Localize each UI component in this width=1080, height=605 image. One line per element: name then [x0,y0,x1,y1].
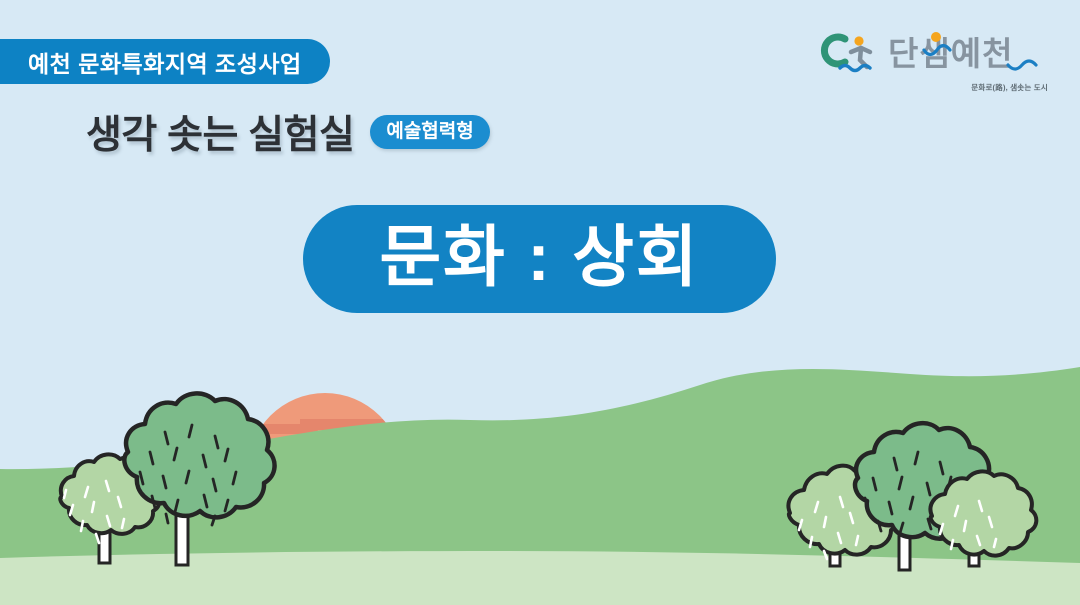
logo-symbol-mark [820,30,882,76]
subtitle-row: 생각 솟는 실험실 예술협력형 [86,104,490,160]
subtitle-text: 생각 솟는 실험실 [86,104,354,160]
logo-wordmark-text: 단샘예천 [888,35,1013,72]
program-banner: 예천 문화특화지역 조성사업 [0,39,330,84]
logo-orange-dot [854,36,863,45]
program-banner-label: 예천 문화특화지역 조성사업 [28,45,302,79]
subtitle-badge: 예술협력형 [370,115,489,149]
main-title-text: 문화 : 상회 [379,224,699,291]
logo-tagline: 문화로(路), 샘솟는 도시 [971,82,1048,93]
hill-foreground [0,551,1080,605]
logo-wordmark-dot [931,32,941,42]
poster-canvas: 예천 문화특화지역 조성사업 생각 솟는 실험실 예술협력형 문화 : 상회 단… [0,0,1080,605]
logo-wordmark: 단샘예천 [888,28,1052,80]
main-title-capsule: 문화 : 상회 [303,205,776,313]
logo-green-ring [824,37,845,64]
city-brand-logo: 단샘예천 문화로(路), 샘솟는 도시 [820,28,1052,100]
